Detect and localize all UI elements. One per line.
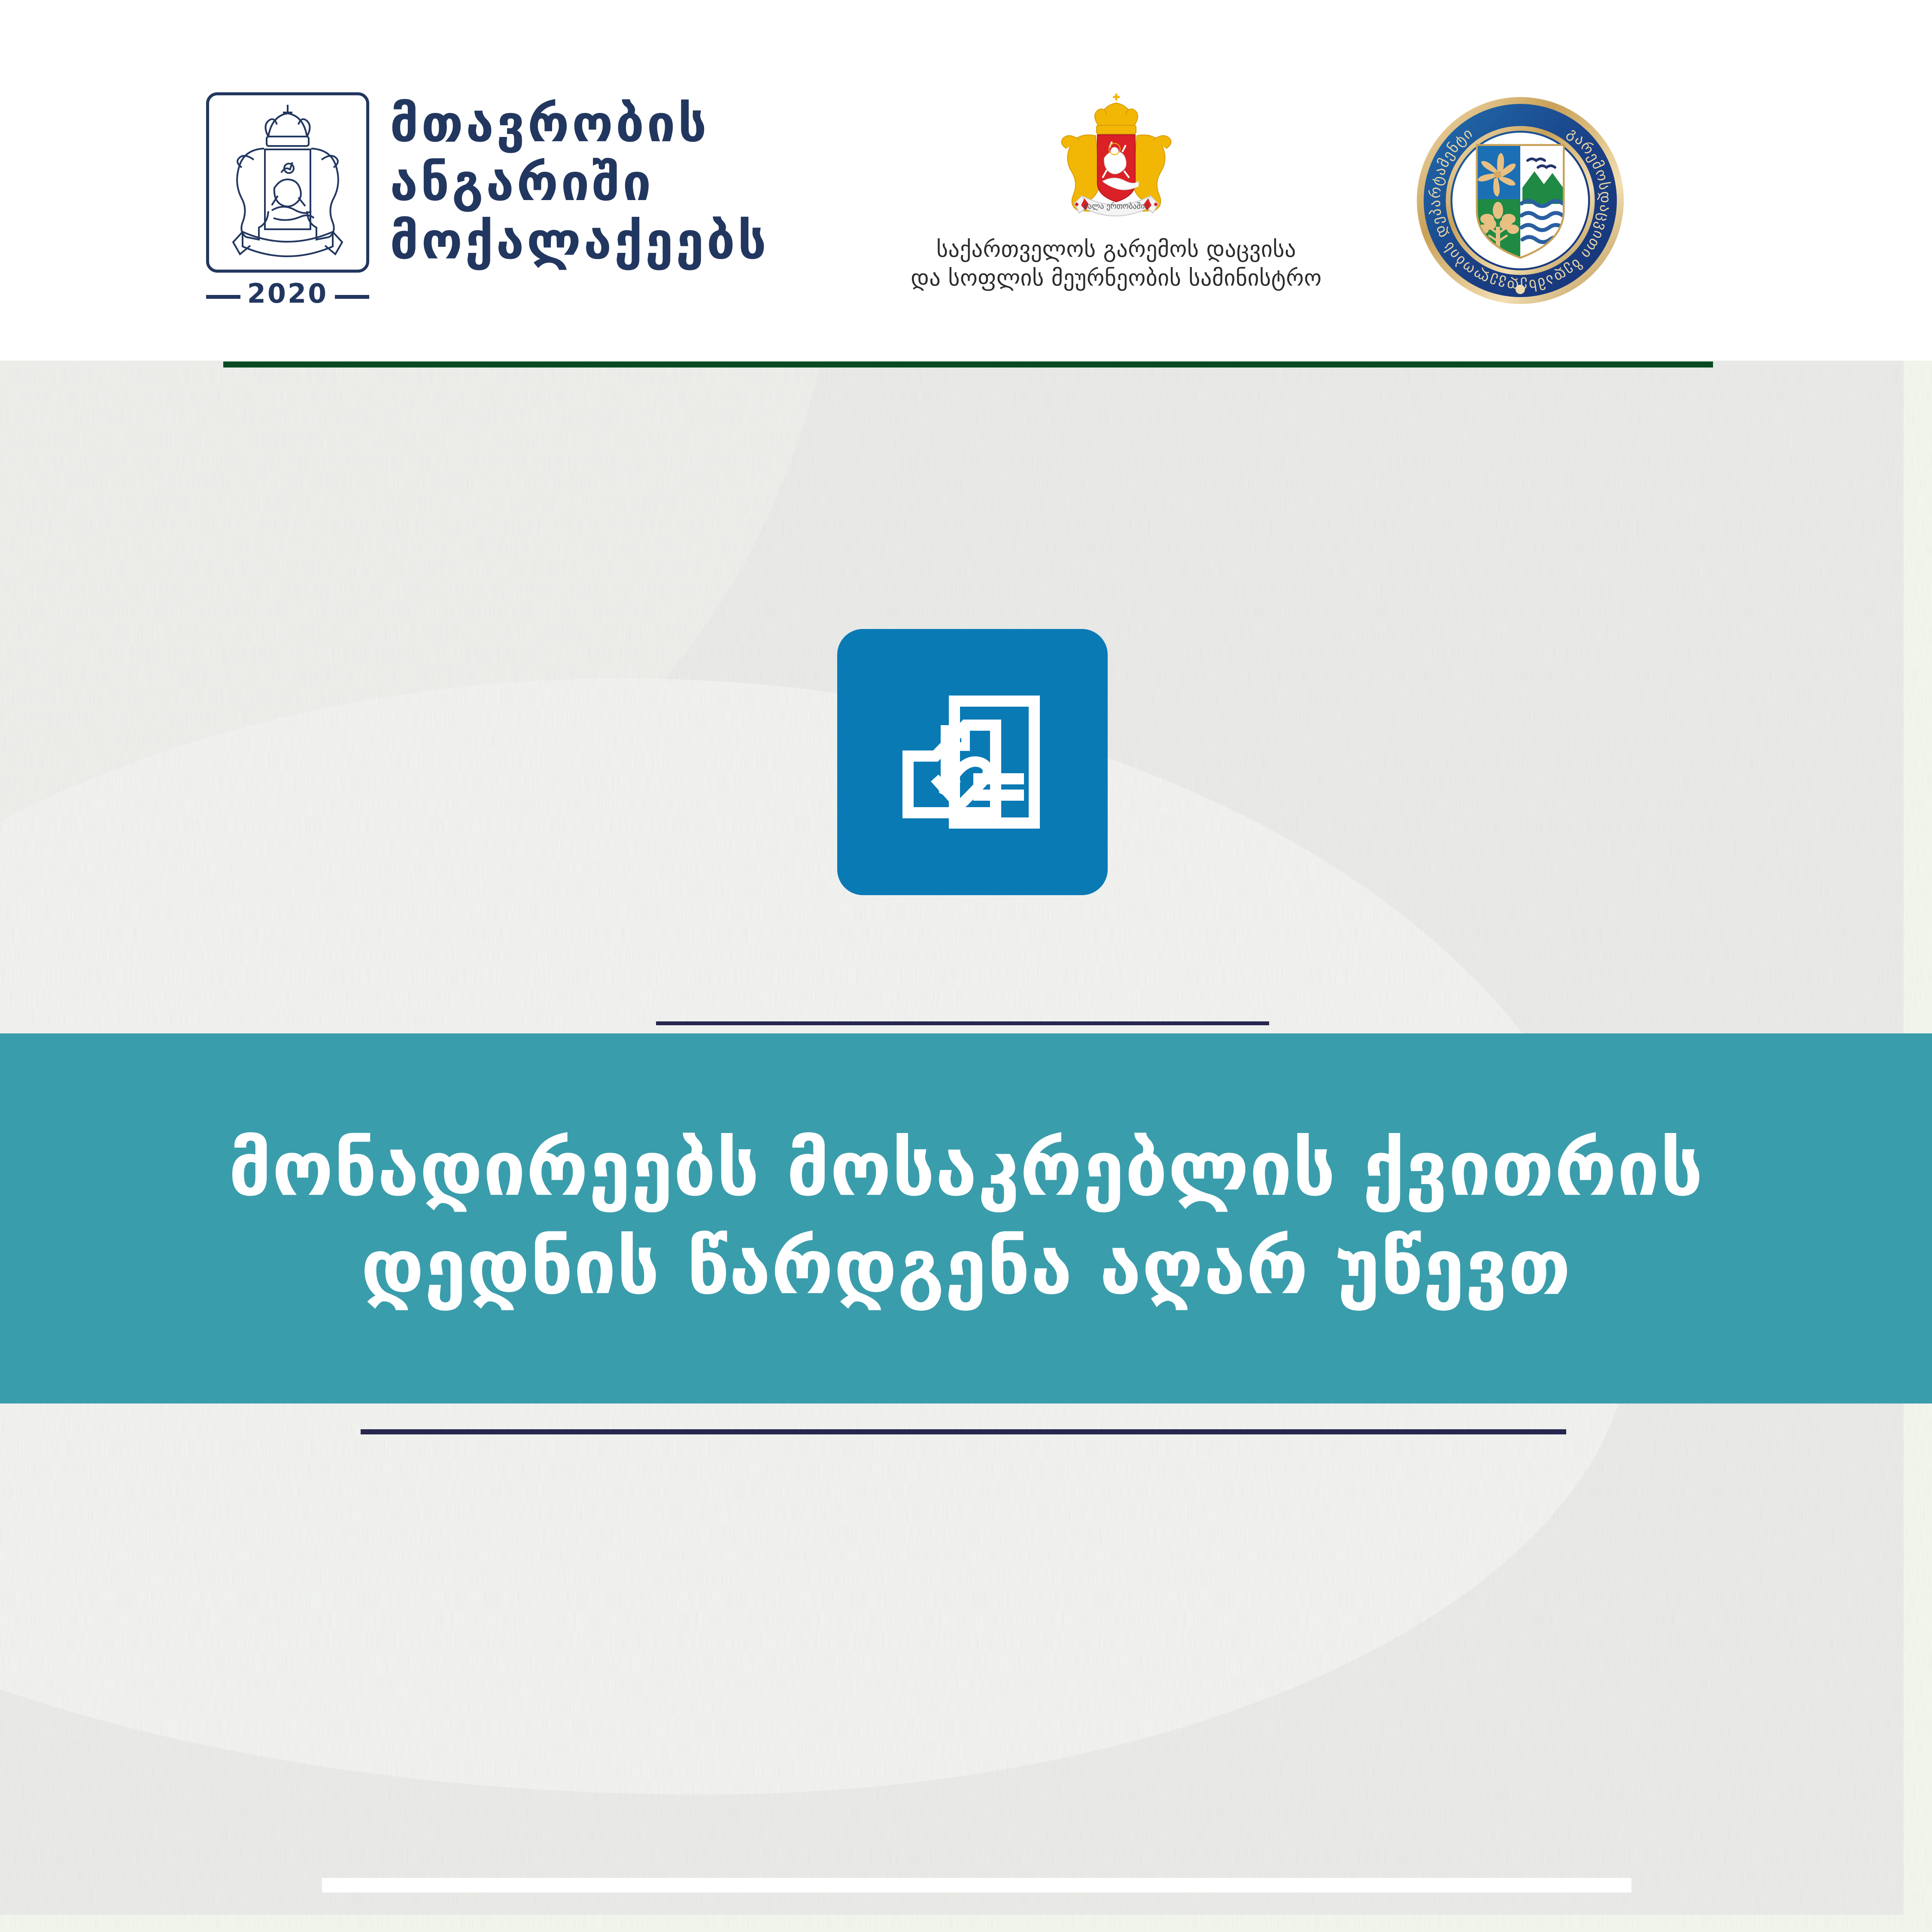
header-green-divider xyxy=(223,361,1713,368)
environmental-supervision-seal-icon: გარემოსდაცვითი ზედამხედველობის დეპარტამე… xyxy=(1415,95,1625,306)
gov-logo-year: 2020 xyxy=(206,278,369,309)
divider-above-title xyxy=(656,1021,1269,1025)
bottom-edge-strip xyxy=(0,1915,1932,1932)
gov-logo-line-3: მოქალაქეებს xyxy=(390,212,769,270)
gov-logo-wordmark: მთავრობის ანგარიში მოქალაქეებს xyxy=(390,92,769,270)
document-with-arrow-icon xyxy=(882,672,1063,852)
ministry-caption-line-2: და სოფლის მეურნეობის სამინისტრო xyxy=(897,264,1335,293)
header-bar: 2020 მთავრობის ანგარიში მოქალაქეებს xyxy=(0,0,1932,361)
ministry-logo: ძალა ერთობაშია საქართველოს გარემოს დაცვი… xyxy=(897,86,1335,292)
page-title-line-2: დედნის წარდგენა აღარ უწევთ xyxy=(129,1218,1803,1317)
page-title: მონადირეებს მოსაკრებლის ქვითრის დედნის წ… xyxy=(129,1120,1803,1317)
poster-canvas: 2020 მთავრობის ანგარიში მოქალაქეებს xyxy=(0,0,1932,1932)
gov-logo-line-2: ანგარიში xyxy=(390,154,769,212)
document-submission-icon xyxy=(837,629,1108,895)
georgia-coat-of-arms-color-icon: ძალა ერთობაშია xyxy=(1026,86,1206,228)
ministry-motto: ძალა ერთობაშია xyxy=(1084,202,1149,211)
ministry-caption-line-1: საქართველოს გარემოს დაცვისა xyxy=(897,235,1335,264)
environmental-supervision-seal: გარემოსდაცვითი ზედამხედველობის დეპარტამე… xyxy=(1415,95,1625,306)
government-report-logo: 2020 მთავრობის ანგარიში მოქალაქეებს xyxy=(206,92,769,273)
title-banner: მონადირეებს მოსაკრებლის ქვითრის დედნის წ… xyxy=(0,1033,1932,1403)
georgia-crest-outline-icon xyxy=(206,92,369,273)
gov-logo-line-1: მთავრობის xyxy=(390,95,769,153)
page-title-line-1: მონადირეებს მოსაკრებლის ქვითრის xyxy=(129,1120,1803,1218)
ministry-caption: საქართველოს გარემოს დაცვისა და სოფლის მე… xyxy=(897,235,1335,292)
divider-below-title xyxy=(361,1429,1566,1434)
footer-white-rule xyxy=(322,1878,1631,1893)
